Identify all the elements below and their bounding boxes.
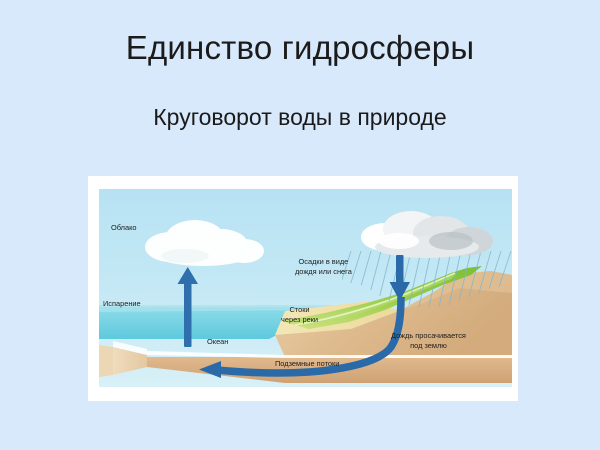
presentation-slide: Единство гидросферы Круговорот воды в пр… xyxy=(0,0,600,450)
diagram-frame: Облако Испарение Океан Осадки в виде дож… xyxy=(88,176,518,401)
water-cycle-diagram: Облако Испарение Океан Осадки в виде дож… xyxy=(99,189,512,387)
water-cycle-illustration xyxy=(99,189,512,387)
slide-subtitle: Круговорот воды в природе xyxy=(0,105,600,130)
slide-title: Единство гидросферы xyxy=(0,30,600,66)
